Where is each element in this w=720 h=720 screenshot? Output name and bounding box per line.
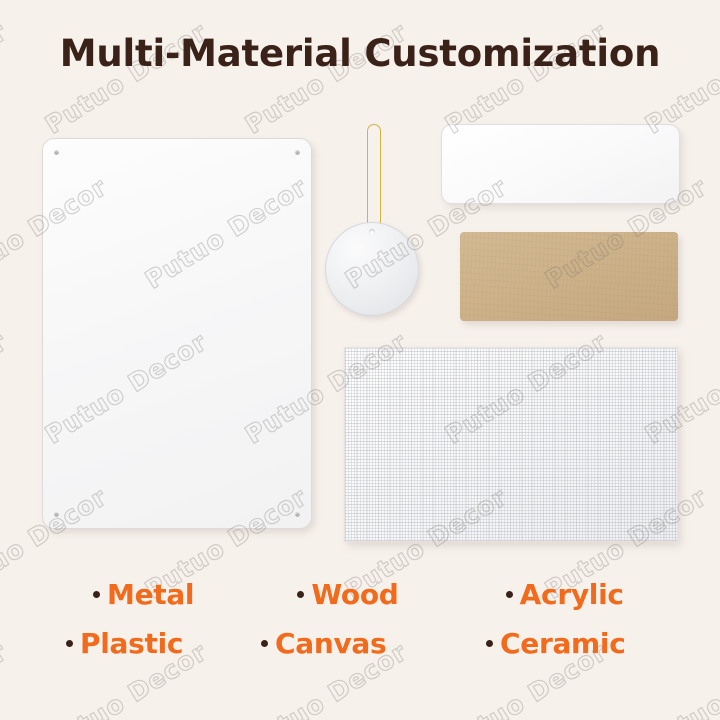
product-wood-board <box>460 232 678 321</box>
product-canvas-panel <box>344 347 678 542</box>
product-feature-graphic: Multi-Material Customization Metal Wood <box>0 0 720 720</box>
screw-hole-icon <box>295 512 300 517</box>
material-label: Wood <box>311 578 398 611</box>
bullet-icon <box>66 640 73 647</box>
material-item-canvas: Canvas <box>260 627 455 660</box>
material-label: Acrylic <box>520 578 624 611</box>
material-item-plastic: Plastic <box>60 627 260 660</box>
product-metal-sign <box>42 138 312 529</box>
material-label: Canvas <box>275 627 386 660</box>
material-label: Plastic <box>80 627 183 660</box>
bullet-icon <box>297 591 304 598</box>
material-item-wood: Wood <box>267 578 471 611</box>
ornament-hole-icon <box>369 229 375 235</box>
material-row: Metal Wood Acrylic <box>60 578 680 611</box>
watermark-text: Putuo Decor <box>0 637 12 720</box>
page-title: Multi-Material Customization <box>0 32 720 75</box>
material-item-ceramic: Ceramic <box>455 627 680 660</box>
product-acrylic-plate <box>441 124 680 204</box>
bullet-icon <box>93 591 100 598</box>
gold-cord-icon <box>367 124 381 229</box>
bullet-icon <box>486 640 493 647</box>
material-list: Metal Wood Acrylic Plastic Canvas C <box>60 578 680 676</box>
material-item-acrylic: Acrylic <box>472 578 680 611</box>
material-label: Ceramic <box>500 627 626 660</box>
screw-hole-icon <box>54 150 59 155</box>
product-ceramic-ornament <box>325 122 419 314</box>
screw-hole-icon <box>54 512 59 517</box>
bullet-icon <box>261 640 268 647</box>
material-label: Metal <box>107 578 194 611</box>
material-row: Plastic Canvas Ceramic <box>60 627 680 660</box>
ornament-disc <box>325 222 419 316</box>
material-item-metal: Metal <box>60 578 267 611</box>
bullet-icon <box>506 591 513 598</box>
screw-hole-icon <box>295 150 300 155</box>
watermark-text: Putuo Decor <box>0 327 12 450</box>
